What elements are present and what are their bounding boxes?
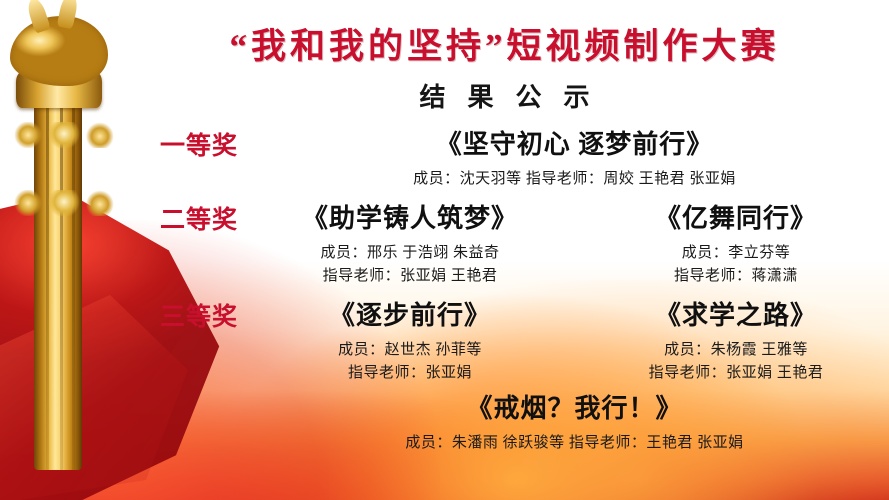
work-credit: 成员：沈天羽等 指导老师：周姣 王艳君 张亚娟: [260, 167, 889, 188]
award-row: 《戒烟？我行！》 成员：朱潘雨 徐跃骏等 指导老师：王艳君 张亚娟: [120, 388, 889, 452]
award-section-third: 三等奖 《逐步前行》 成员：赵世杰 孙菲等 指导老师：张亚娟 《求学之路》 成员…: [120, 295, 889, 382]
pillar-shaft: [34, 98, 82, 470]
award-works: 《逐步前行》 成员：赵世杰 孙菲等 指导老师：张亚娟 《求学之路》 成员：朱杨霞…: [238, 295, 889, 382]
work-entry: 《求学之路》 成员：朱杨霞 王雅等 指导老师：张亚娟 王艳君: [586, 295, 886, 382]
dragon-horn-icon: [57, 0, 80, 29]
work-credit: 成员：朱杨霞 王雅等: [586, 338, 886, 359]
pillar-flute: [46, 98, 49, 470]
work-credit: 指导老师：张亚娟 王艳君: [586, 361, 886, 382]
award-rank-label: 一等奖: [120, 124, 238, 162]
cloud-band-icon: [8, 122, 120, 148]
pillar-flute: [72, 98, 75, 470]
work-credit: 指导老师：张亚娟: [260, 361, 560, 382]
award-rank-label: 三等奖: [120, 295, 238, 333]
work-credit: 指导老师：蒋潇潇: [586, 264, 886, 285]
work-entry: 《戒烟？我行！》 成员：朱潘雨 徐跃骏等 指导老师：王艳君 张亚娟: [260, 388, 889, 452]
award-rank-label: 二等奖: [120, 198, 238, 236]
award-row: 二等奖 《助学铸人筑梦》 成员：邢乐 于浩翊 朱益奇 指导老师：张亚娟 王艳君 …: [120, 198, 889, 285]
work-entry: 《助学铸人筑梦》 成员：邢乐 于浩翊 朱益奇 指导老师：张亚娟 王艳君: [260, 198, 560, 285]
award-row: 一等奖 《坚守初心 逐梦前行》 成员：沈天羽等 指导老师：周姣 王艳君 张亚娟: [120, 124, 889, 188]
work-title: 《亿舞同行》: [586, 198, 886, 235]
pillar-flute: [60, 98, 63, 470]
dragon-head-icon: [10, 16, 108, 86]
award-works: 《坚守初心 逐梦前行》 成员：沈天羽等 指导老师：周姣 王艳君 张亚娟: [238, 124, 889, 188]
work-credit: 指导老师：张亚娟 王艳君: [260, 264, 560, 285]
award-works: 《助学铸人筑梦》 成员：邢乐 于浩翊 朱益奇 指导老师：张亚娟 王艳君 《亿舞同…: [238, 198, 889, 285]
award-section-third-continued: 《戒烟？我行！》 成员：朱潘雨 徐跃骏等 指导老师：王艳君 张亚娟: [120, 388, 889, 452]
poster-subtitle: 结果公示: [120, 77, 889, 114]
award-rank-label: [120, 388, 238, 390]
dragon-horn-icon: [25, 0, 51, 34]
work-credit: 成员：朱潘雨 徐跃骏等 指导老师：王艳君 张亚娟: [260, 431, 889, 452]
poster-canvas: “我和我的坚持”短视频制作大赛 结果公示 一等奖 《坚守初心 逐梦前行》 成员：…: [0, 0, 889, 500]
poster-content: “我和我的坚持”短视频制作大赛 结果公示 一等奖 《坚守初心 逐梦前行》 成员：…: [120, 0, 889, 500]
work-credit: 成员：邢乐 于浩翊 朱益奇: [260, 241, 560, 262]
work-credit: 成员：李立芬等: [586, 241, 886, 262]
award-works: 《戒烟？我行！》 成员：朱潘雨 徐跃骏等 指导老师：王艳君 张亚娟: [238, 388, 889, 452]
award-row: 三等奖 《逐步前行》 成员：赵世杰 孙菲等 指导老师：张亚娟 《求学之路》 成员…: [120, 295, 889, 382]
work-entry: 《亿舞同行》 成员：李立芬等 指导老师：蒋潇潇: [586, 198, 886, 285]
poster-title: “我和我的坚持”短视频制作大赛: [120, 18, 889, 69]
work-title: 《戒烟？我行！》: [260, 388, 889, 425]
work-entry: 《逐步前行》 成员：赵世杰 孙菲等 指导老师：张亚娟: [260, 295, 560, 382]
pillar-capital: [16, 72, 102, 108]
work-title: 《助学铸人筑梦》: [260, 198, 560, 235]
work-title: 《坚守初心 逐梦前行》: [260, 124, 889, 161]
work-credit: 成员：赵世杰 孙菲等: [260, 338, 560, 359]
work-title: 《逐步前行》: [260, 295, 560, 332]
cloud-band-icon: [8, 190, 120, 216]
award-section-second: 二等奖 《助学铸人筑梦》 成员：邢乐 于浩翊 朱益奇 指导老师：张亚娟 王艳君 …: [120, 198, 889, 285]
award-section-first: 一等奖 《坚守初心 逐梦前行》 成员：沈天羽等 指导老师：周姣 王艳君 张亚娟: [120, 124, 889, 188]
golden-dragon-pillar-icon: [8, 0, 118, 464]
work-entry: 《坚守初心 逐梦前行》 成员：沈天羽等 指导老师：周姣 王艳君 张亚娟: [260, 124, 889, 188]
work-title: 《求学之路》: [586, 295, 886, 332]
